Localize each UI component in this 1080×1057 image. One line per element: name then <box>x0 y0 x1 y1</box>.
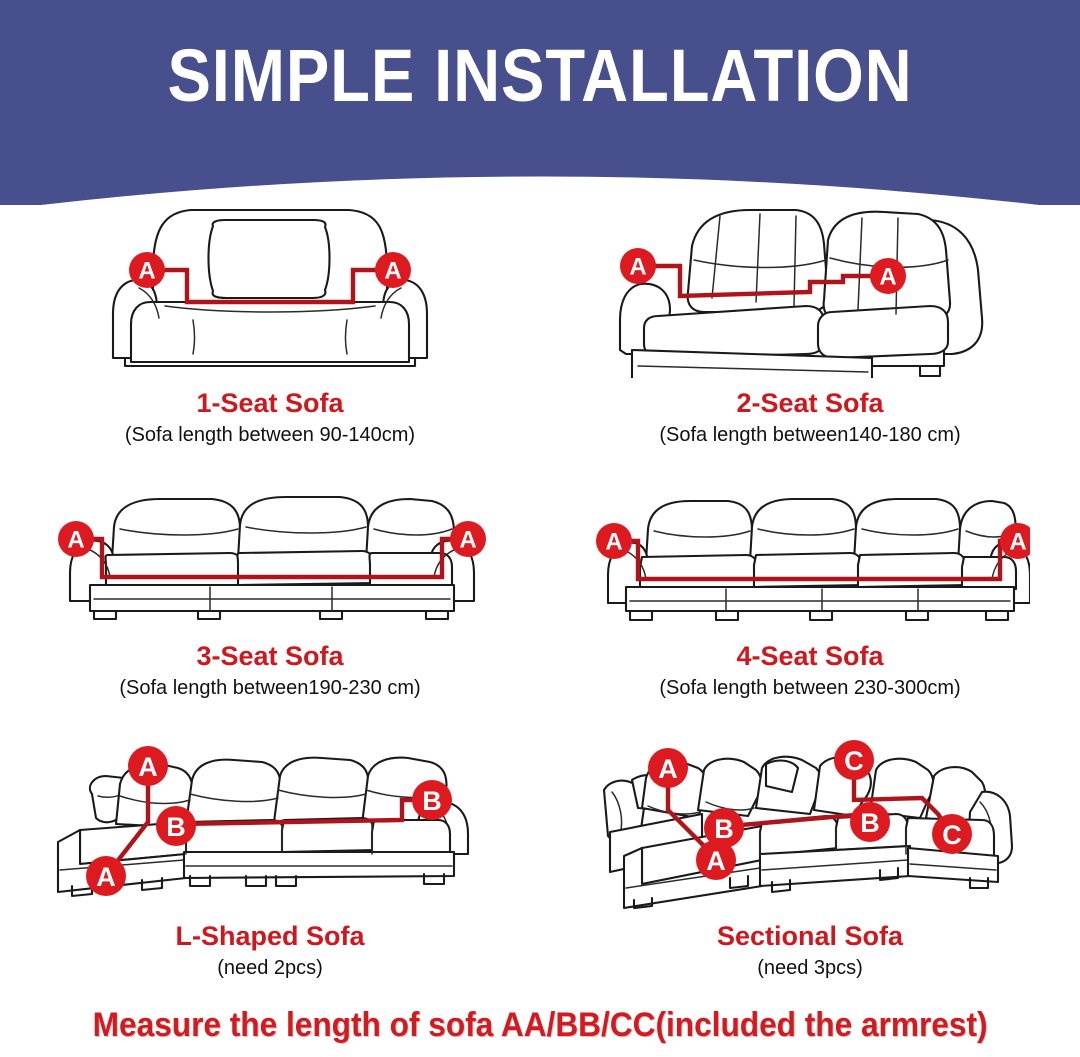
footer-note: Measure the length of sofa AA/BB/CC(incl… <box>0 1005 1080 1045</box>
panel-l-shaped-title: L-Shaped Sofa <box>175 921 364 951</box>
marker-a-left: A <box>58 521 94 557</box>
panel-sectional-subtitle: (need 3pcs) <box>757 956 863 980</box>
l-shaped-sofa-illustration: A A B B <box>50 736 490 911</box>
marker-a-left-label: A <box>67 527 84 554</box>
panel-four-seat-title: 4-Seat Sofa <box>736 641 883 671</box>
panel-three-seat-title: 3-Seat Sofa <box>196 641 343 671</box>
grid-row-2: A A 3-Seat Sofa (Sofa length between190-… <box>0 447 1080 700</box>
grid-row-3: A A B B L-Shaped Sofa (need 2pcs) <box>0 700 1080 980</box>
panel-l-shaped-subtitle: (need 2pcs) <box>217 956 323 980</box>
panel-one-seat-title: 1-Seat Sofa <box>196 388 343 418</box>
marker-a-right-label: A <box>879 264 896 291</box>
marker-a-right-label: A <box>459 527 476 554</box>
marker-b-right: B <box>850 802 890 842</box>
grid-row-1: A A 1-Seat Sofa (Sofa length between 90-… <box>0 196 1080 447</box>
one-seat-sofa-illustration: A A <box>95 198 445 378</box>
four-seat-sofa-illustration: A A <box>590 489 1030 629</box>
marker-c-top: C <box>834 740 874 780</box>
three-seat-sofa-illustration: A A <box>50 489 490 629</box>
panel-one-seat-subtitle: (Sofa length between 90-140cm) <box>125 423 415 447</box>
marker-a-right: A <box>375 252 411 288</box>
page-title: SIMPLE INSTALLATION <box>65 38 1015 114</box>
marker-b-left-label: B <box>714 814 734 844</box>
marker-b-right: B <box>412 780 452 820</box>
marker-a-top: A <box>648 748 688 788</box>
footer-measure-text: Measure the length of sofa AA/BB/CC(incl… <box>93 1005 988 1045</box>
sectional-sofa-illustration: A A B B C <box>590 736 1030 911</box>
marker-a-right: A <box>450 521 486 557</box>
marker-a-bottom-label: A <box>706 846 726 876</box>
sofa-type-grid: A A 1-Seat Sofa (Sofa length between 90-… <box>0 196 1080 980</box>
panel-l-shaped[interactable]: A A B B L-Shaped Sofa (need 2pcs) <box>0 700 540 980</box>
marker-a-bottom-label: A <box>96 862 116 892</box>
marker-a-top-label: A <box>138 752 158 782</box>
marker-a-top: A <box>128 746 168 786</box>
panel-sectional[interactable]: A A B B C <box>540 700 1080 980</box>
panel-four-seat-subtitle: (Sofa length between 230-300cm) <box>659 676 960 700</box>
panel-one-seat[interactable]: A A 1-Seat Sofa (Sofa length between 90-… <box>0 196 540 447</box>
marker-b-right-label: B <box>422 786 442 816</box>
two-seat-sofa-illustration: A A <box>600 198 1020 378</box>
panel-three-seat[interactable]: A A 3-Seat Sofa (Sofa length between190-… <box>0 447 540 700</box>
panel-three-seat-subtitle: (Sofa length between190-230 cm) <box>119 676 420 700</box>
panel-two-seat-title: 2-Seat Sofa <box>736 388 883 418</box>
marker-a-right: A <box>870 258 906 294</box>
marker-b-left-label: B <box>166 812 186 842</box>
marker-b-left: B <box>704 808 744 848</box>
panel-two-seat-subtitle: (Sofa length between140-180 cm) <box>659 423 960 447</box>
marker-a-right-label: A <box>384 258 401 285</box>
panel-four-seat[interactable]: A A 4-Seat Sofa (Sofa length between 230… <box>540 447 1080 700</box>
marker-c-bottom-label: C <box>942 820 962 850</box>
marker-c-bottom: C <box>932 814 972 854</box>
panel-two-seat[interactable]: A A 2-Seat Sofa (Sofa length between140-… <box>540 196 1080 447</box>
marker-a-left: A <box>596 523 632 559</box>
panel-sectional-title: Sectional Sofa <box>717 921 903 951</box>
marker-a-left-label: A <box>605 529 622 556</box>
marker-a-left: A <box>129 252 165 288</box>
header-banner: SIMPLE INSTALLATION <box>0 0 1080 205</box>
marker-a-top-label: A <box>658 754 678 784</box>
marker-b-left: B <box>156 806 196 846</box>
marker-a-right-label: A <box>1009 529 1026 556</box>
marker-a-bottom: A <box>86 856 126 896</box>
marker-a-left-label: A <box>629 254 646 281</box>
marker-c-top-label: C <box>844 746 864 776</box>
marker-a-left: A <box>620 248 656 284</box>
marker-a-left-label: A <box>138 258 155 285</box>
marker-b-right-label: B <box>860 808 880 838</box>
